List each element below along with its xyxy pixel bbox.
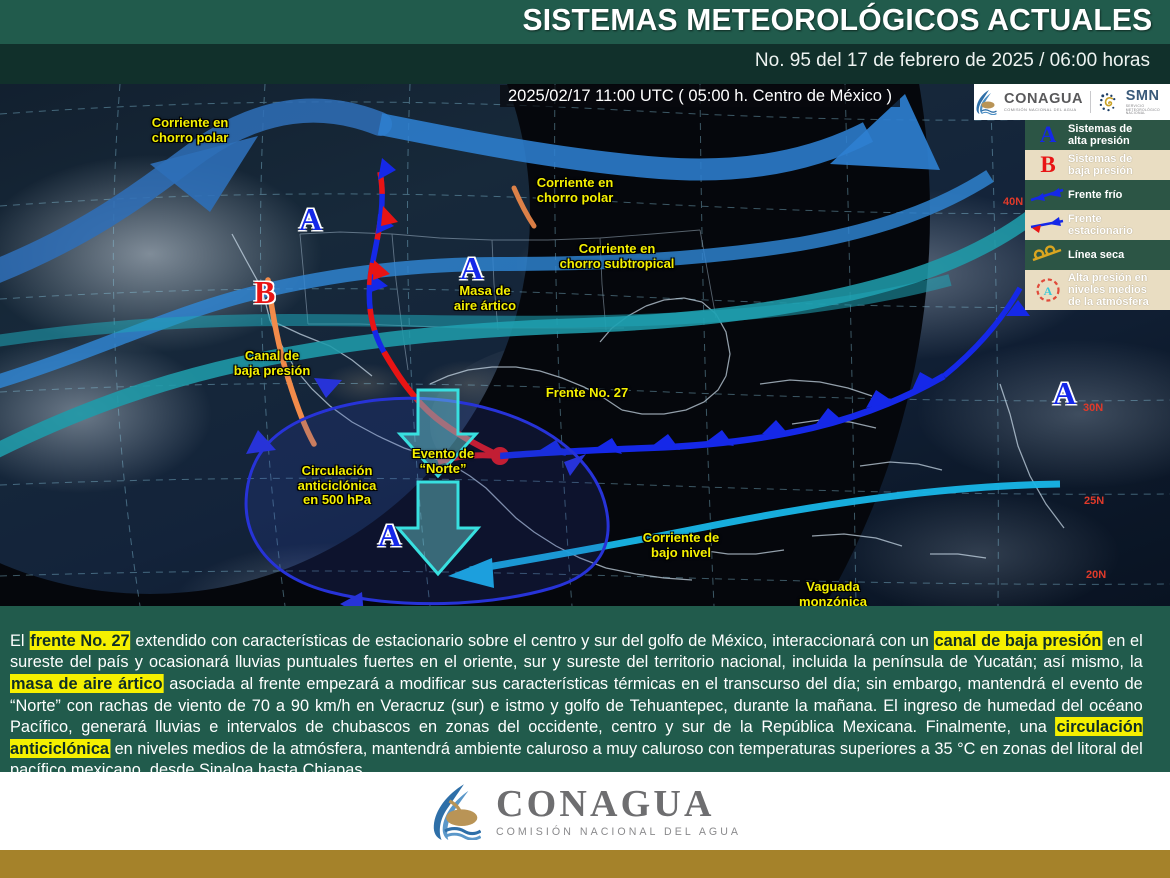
paragraph-text: extendido con características de estacio… (131, 631, 934, 650)
conagua-name: CONAGUA (1004, 92, 1083, 107)
footer-subtitle: COMISIÓN NACIONAL DEL AGUA (496, 827, 741, 838)
map-label-frente-no-27: Frente No. 27 (546, 386, 628, 401)
paragraph-text: asociada al frente empezará a modificar … (10, 674, 1143, 736)
conagua-logo-icon (974, 89, 997, 115)
conagua-subtitle: COMISIÓN NACIONAL DEL AGUA (1004, 108, 1083, 112)
logo-divider (1090, 91, 1091, 113)
highlighted-term: masa de aire ártico (10, 674, 164, 693)
legend-label: Sistemas de baja presión (1068, 153, 1133, 177)
pressure-symbol-baja-presion-baja-california: B (254, 276, 275, 308)
page-title: SISTEMAS METEOROLÓGICOS ACTUALES (522, 2, 1152, 38)
map-label-evento-de-norte: Evento de “Norte” (412, 447, 474, 476)
map-label-corriente-chorro-polar-2: Corriente en chorro polar (537, 176, 614, 205)
legend-label: Línea seca (1068, 249, 1124, 261)
legend-row-frente-frio: Frente frío (1025, 180, 1170, 210)
high-pressure-A-icon: A (1028, 122, 1068, 148)
highlighted-term: canal de baja presión (934, 631, 1103, 650)
legend-row-alta-presion-niveles-medios: AAlta presión en niveles medios de la at… (1025, 270, 1170, 310)
weather-bulletin-page: SISTEMAS METEOROLÓGICOS ACTUALES No. 95 … (0, 0, 1170, 878)
map-logo-bar: CONAGUA COMISIÓN NACIONAL DEL AGUA (974, 84, 1170, 120)
svg-text:A: A (1044, 284, 1053, 298)
mid-level-high-icon: A (1028, 277, 1068, 303)
footer-name: CONAGUA (496, 785, 741, 823)
cold-front-northeast (944, 288, 1030, 376)
legend-label: Sistemas de alta presión (1068, 123, 1132, 147)
map-label-vaguada-monzonica: Vaguada monzónica (799, 580, 867, 606)
weather-features-overlay (0, 84, 1170, 606)
legend-row-sistemas-alta-presion: ASistemas de alta presión (1025, 120, 1170, 150)
map-label-corriente-bajo-nivel: Corriente de bajo nivel (643, 531, 720, 560)
map-timestamp: 2025/02/17 11:00 UTC ( 05:00 h. Centro d… (500, 85, 900, 107)
legend-label: Frente frío (1068, 189, 1122, 201)
bulletin-number-date: No. 95 del 17 de febrero de 2025 / 06:00… (755, 50, 1150, 72)
footer-gold-bar (0, 850, 1170, 878)
legend-row-linea-seca: Línea seca (1025, 240, 1170, 270)
smn-subtitle: SERVICIO METEOROLÓGICO NACIONAL (1126, 105, 1170, 115)
highlighted-term: frente No. 27 (29, 631, 130, 650)
subtropical-jet-stream-band (0, 202, 1050, 454)
forecast-text-panel: El frente No. 27 extendido con caracterí… (0, 606, 1170, 772)
smn-name: SMN (1126, 89, 1170, 104)
map-legend: ASistemas de alta presiónBSistemas de ba… (1025, 120, 1170, 310)
pressure-symbol-alta-presion-mexico: A (378, 519, 401, 551)
conagua-wordmark: CONAGUA COMISIÓN NACIONAL DEL AGUA (1004, 92, 1083, 112)
pressure-symbol-alta-presion-este: A (1053, 377, 1076, 409)
footer-wordmark: CONAGUA COMISIÓN NACIONAL DEL AGUA (496, 785, 741, 838)
pressure-symbol-alta-presion-noroeste: A (299, 203, 322, 235)
smn-wordmark: SMN SERVICIO METEOROLÓGICO NACIONAL (1126, 89, 1170, 116)
map-label-corriente-chorro-subtropical: Corriente en chorro subtropical (560, 242, 675, 271)
latitude-label: 25N (1084, 495, 1104, 507)
paragraph-text: El (10, 631, 29, 650)
map-label-canal-baja-presion: Canal de baja presión (234, 349, 311, 378)
footer-brand: CONAGUA COMISIÓN NACIONAL DEL AGUA (0, 772, 1170, 850)
legend-row-sistemas-baja-presion: BSistemas de baja presión (1025, 150, 1170, 180)
forecast-paragraph: El frente No. 27 extendido con caracterí… (10, 630, 1143, 781)
latitude-label: 40N (1003, 196, 1023, 208)
dry-line-icon (1028, 242, 1068, 268)
smn-logo-icon (1098, 92, 1119, 113)
polar-jet-stream-band (0, 94, 990, 384)
map-label-corriente-chorro-polar-1: Corriente en chorro polar (152, 116, 229, 145)
pressure-symbol-alta-presion-centro: A (460, 252, 483, 284)
legend-label: Frente estacionario (1068, 213, 1133, 237)
legend-row-frente-estacionario: Frente estacionario (1025, 210, 1170, 240)
satellite-weather-map[interactable]: 2025/02/17 11:00 UTC ( 05:00 h. Centro d… (0, 84, 1170, 606)
stationary-front-icon (1028, 212, 1068, 238)
cold-front-icon (1028, 182, 1068, 208)
legend-label: Alta presión en niveles medios de la atm… (1068, 272, 1149, 308)
latitude-label: 30N (1083, 402, 1103, 414)
map-label-masa-aire-artico: Masa de aire ártico (454, 284, 516, 313)
latitude-label: 20N (1086, 569, 1106, 581)
low-pressure-B-icon: B (1028, 152, 1068, 178)
conagua-footer-logo-icon (429, 782, 481, 840)
map-label-circulacion-anticiclonica: Circulación anticiclónica en 500 hPa (298, 464, 377, 508)
